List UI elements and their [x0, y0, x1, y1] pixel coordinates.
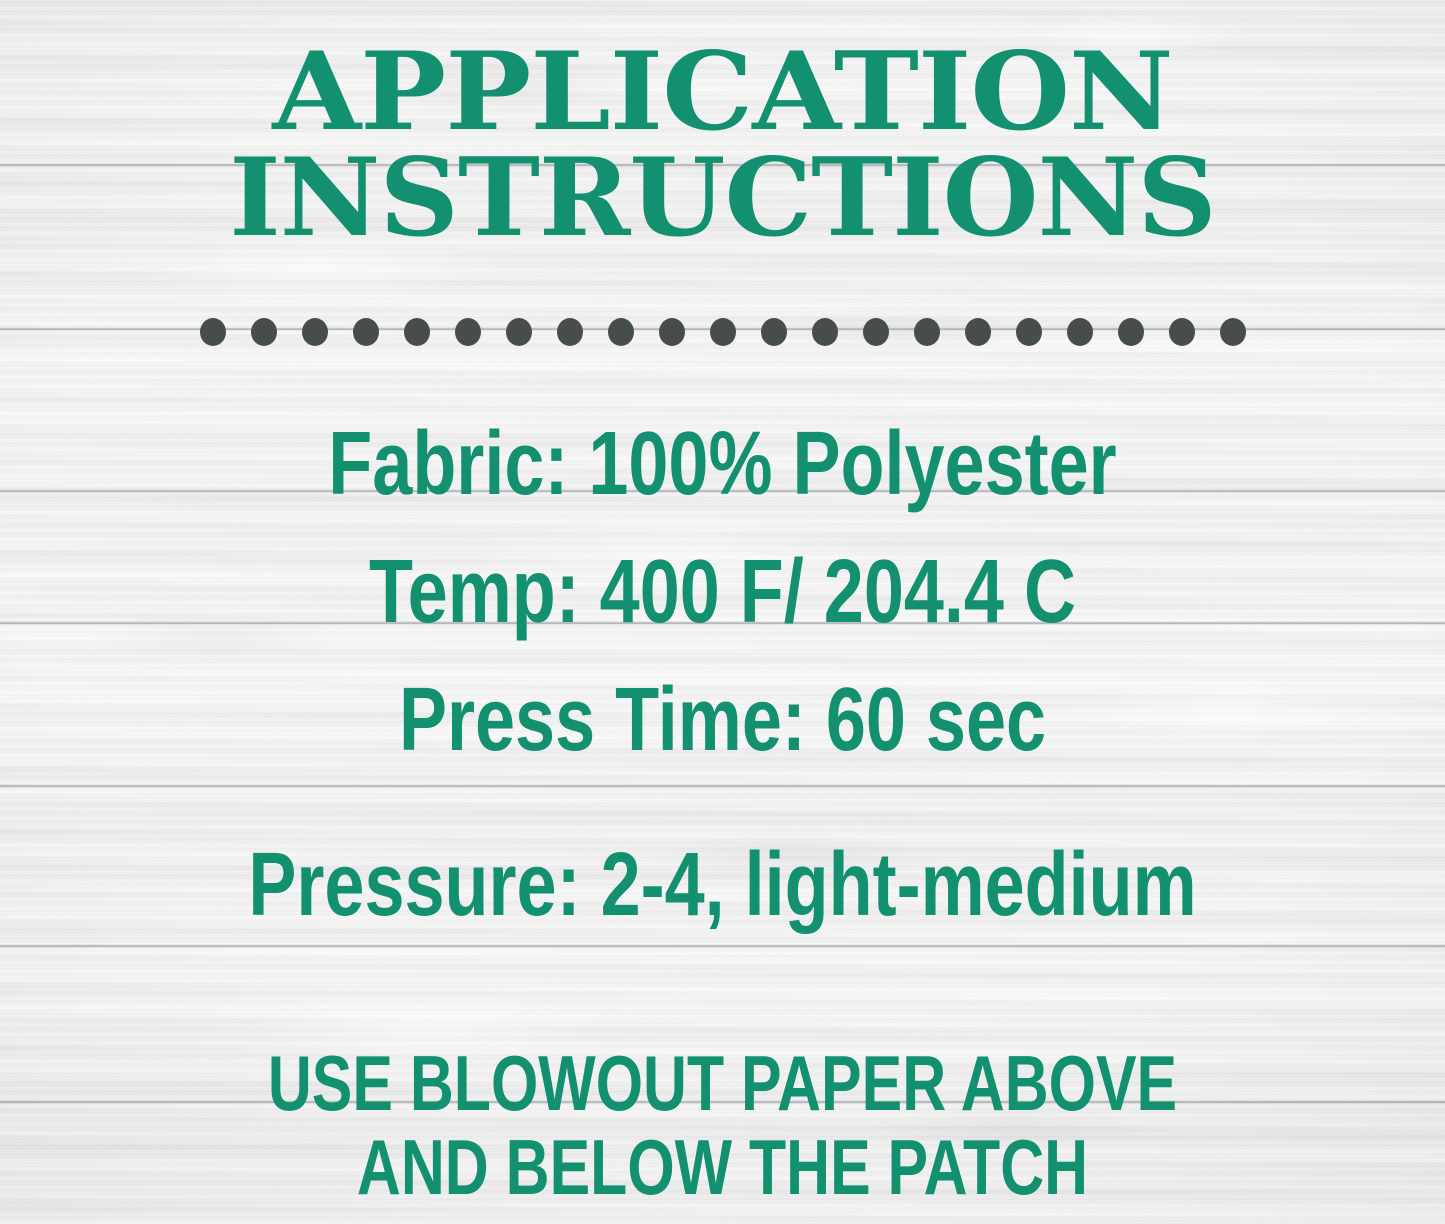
dotted-divider — [0, 318, 1445, 346]
poster-content: APPLICATION INSTRUCTIONS Fabric: 100% Po… — [0, 0, 1445, 1224]
page-title-line-2: INSTRUCTIONS — [0, 148, 1445, 250]
divider-dot — [404, 318, 430, 346]
spec-press-time: Press Time: 60 sec — [145, 669, 1301, 772]
divider-dot — [200, 318, 226, 346]
footer-note-line-2: AND BELOW THE PATCH — [159, 1122, 1286, 1213]
page-title-line-1: APPLICATION — [0, 42, 1445, 144]
divider-dot — [1220, 318, 1246, 346]
footer-note-line-1: USE BLOWOUT PAPER ABOVE — [159, 1038, 1286, 1129]
divider-dot — [1067, 318, 1093, 346]
spec-fabric: Fabric: 100% Polyester — [145, 413, 1301, 516]
spec-temp: Temp: 400 F/ 204.4 C — [145, 541, 1301, 644]
divider-dot — [251, 318, 277, 346]
divider-dot — [1016, 318, 1042, 346]
spec-pressure: Pressure: 2-4, light-medium — [145, 834, 1301, 937]
application-instructions-poster: APPLICATION INSTRUCTIONS Fabric: 100% Po… — [0, 0, 1445, 1224]
divider-dot — [302, 318, 328, 346]
divider-dot — [812, 318, 838, 346]
divider-dot — [506, 318, 532, 346]
divider-dot — [914, 318, 940, 346]
divider-dot — [455, 318, 481, 346]
divider-dot — [863, 318, 889, 346]
divider-dot — [965, 318, 991, 346]
divider-dot — [608, 318, 634, 346]
divider-dot — [659, 318, 685, 346]
divider-dot — [353, 318, 379, 346]
divider-dot — [1169, 318, 1195, 346]
divider-dot — [557, 318, 583, 346]
divider-dot — [1118, 318, 1144, 346]
divider-dot — [710, 318, 736, 346]
divider-dot — [761, 318, 787, 346]
